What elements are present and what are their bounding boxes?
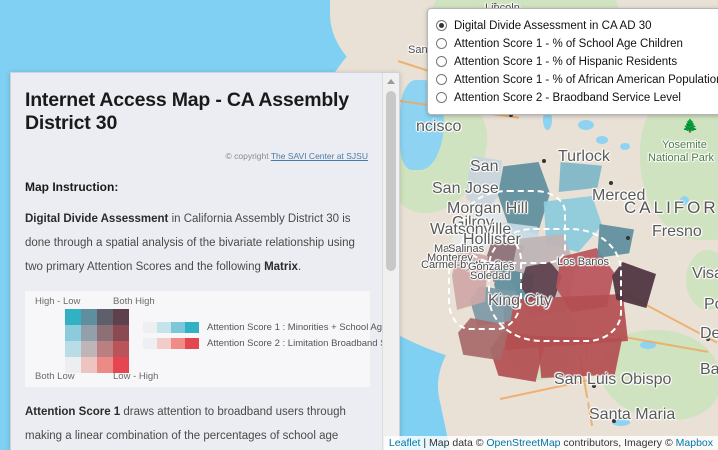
openstreetmap-link[interactable]: OpenStreetMap: [486, 437, 560, 449]
layer-option-label: Digital Divide Assessment in CA AD 30: [454, 20, 652, 32]
matrix-cell-r1-c3: [113, 325, 129, 341]
map-data-prefix: Map data ©: [429, 437, 486, 449]
district-polygon[interactable]: [452, 250, 488, 310]
gradient-legend-label: Attention Score 2 : Limitation Broadband…: [207, 338, 384, 349]
page-title: Internet Access Map - CA Assembly Distri…: [25, 89, 370, 135]
lake: [596, 136, 608, 144]
layer-option-label: Attention Score 2 - Braodband Service Le…: [454, 92, 681, 104]
matrix-cell-r3-c3: [113, 357, 129, 373]
gradient-legend-row-1: Attention Score 2 : Limitation Broadband…: [143, 337, 384, 350]
layer-option-label: Attention Score 1 - % of Hispanic Reside…: [454, 56, 677, 68]
radio-unselected-icon[interactable]: [436, 56, 447, 67]
city-dot: [704, 272, 708, 276]
attention-score-gradient-legends: Attention Score 1 : Minorities + School …: [143, 321, 384, 353]
savi-center-link[interactable]: The SAVI Center at SJSU: [271, 151, 368, 161]
district-polygon[interactable]: [532, 336, 624, 378]
map-attribution: Leaflet | Map data © OpenStreetMap contr…: [384, 436, 718, 450]
matrix-cell-r3-c0: [65, 357, 81, 373]
city-dot: [493, 3, 497, 7]
layer-option-2[interactable]: Attention Score 1 - % of Hispanic Reside…: [436, 53, 718, 70]
matrix-cell-r2-c0: [65, 341, 81, 357]
matrix-cell-r1-c1: [81, 325, 97, 341]
layer-option-1[interactable]: Attention Score 1 - % of School Age Chil…: [436, 35, 718, 52]
layer-control-panel[interactable]: Digital Divide Assessment in CA AD 30Att…: [427, 8, 718, 115]
layer-option-label: Attention Score 1 - % of School Age Chil…: [454, 38, 683, 50]
matrix-corner-high-low: High - Low: [35, 296, 80, 307]
info-panel: Internet Access Map - CA Assembly Distri…: [10, 72, 400, 450]
gradient-swatch: [171, 322, 185, 333]
matrix-cell-r0-c0: [65, 309, 81, 325]
matrix-cell-r0-c1: [81, 309, 97, 325]
attribution-contributors: contributors, Imagery ©: [561, 437, 676, 449]
park-tree-icon: 🌲: [682, 118, 698, 134]
paragraph2-lead: Attention Score 1: [25, 406, 120, 418]
city-dot: [609, 181, 613, 185]
matrix-cell-r3-c1: [81, 357, 97, 373]
lake: [620, 143, 630, 150]
internet-access-map-app: 580 🌲: [0, 0, 718, 450]
matrix-cell-r0-c2: [97, 309, 113, 325]
radio-unselected-icon[interactable]: [436, 92, 447, 103]
matrix-corner-both-high: Both High: [113, 296, 155, 307]
layer-option-3[interactable]: Attention Score 1 - % of African America…: [436, 71, 718, 88]
lake: [578, 120, 594, 130]
paragraph1-lead: Digital Divide Assessment: [25, 213, 168, 225]
lake: [680, 196, 689, 205]
info-panel-content: Internet Access Map - CA Assembly Distri…: [11, 73, 384, 450]
scrollbar-thumb[interactable]: [386, 91, 396, 271]
matrix-cell-r2-c1: [81, 341, 97, 357]
gradient-swatch: [143, 338, 157, 349]
gradient-bar: [143, 338, 199, 349]
gradient-swatch: [185, 322, 199, 333]
leaflet-link[interactable]: Leaflet: [389, 437, 421, 449]
city-dot: [626, 236, 630, 240]
city-dot: [706, 337, 710, 341]
matrix-color-grid: [65, 309, 129, 373]
paragraph-digital-divide: Digital Divide Assessment in California …: [25, 207, 370, 279]
gradient-swatch: [185, 338, 199, 349]
city-dot: [542, 159, 546, 163]
matrix-cell-r3-c2: [97, 357, 113, 373]
paragraph-attention-score-1: Attention Score 1 draws attention to bro…: [25, 400, 370, 450]
gradient-swatch: [171, 338, 185, 349]
layer-option-0[interactable]: Digital Divide Assessment in CA AD 30: [436, 17, 718, 34]
district-polygon[interactable]: [594, 224, 634, 258]
copyright-line: © copyright The SAVI Center at SJSU: [25, 151, 370, 161]
city-dot: [592, 384, 596, 388]
matrix-cell-r2-c2: [97, 341, 113, 357]
copyright-prefix: © copyright: [226, 151, 271, 161]
gradient-swatch: [157, 322, 171, 333]
bivariate-matrix-legend: High - Low Both High Both Low Low - High…: [25, 291, 370, 387]
city-dot: [612, 419, 616, 423]
matrix-cell-r0-c3: [113, 309, 129, 325]
radio-unselected-icon[interactable]: [436, 38, 447, 49]
gradient-legend-row-0: Attention Score 1 : Minorities + School …: [143, 321, 384, 334]
scroll-up-arrow-icon[interactable]: [383, 73, 399, 89]
paragraph1-tail: .: [298, 261, 301, 273]
gradient-swatch: [157, 338, 171, 349]
gradient-bar: [143, 322, 199, 333]
radio-selected-icon[interactable]: [436, 20, 447, 31]
layer-option-4[interactable]: Attention Score 2 - Braodband Service Le…: [436, 89, 718, 106]
city-dot: [492, 187, 496, 191]
district-polygon[interactable]: [556, 162, 602, 192]
layer-option-label: Attention Score 1 - % of African America…: [454, 74, 718, 86]
paragraph1-matrix-word: Matrix: [264, 261, 298, 273]
attribution-separator: |: [420, 437, 429, 449]
matrix-cell-r1-c0: [65, 325, 81, 341]
mapbox-link[interactable]: Mapbox: [676, 437, 713, 449]
gradient-swatch: [143, 322, 157, 333]
matrix-cell-r2-c3: [113, 341, 129, 357]
radio-unselected-icon[interactable]: [436, 74, 447, 85]
map-instruction-heading: Map Instruction:: [25, 180, 370, 194]
matrix-cell-r1-c2: [97, 325, 113, 341]
info-panel-scrollbar[interactable]: [382, 73, 399, 450]
gradient-legend-label: Attention Score 1 : Minorities + School …: [207, 322, 384, 333]
